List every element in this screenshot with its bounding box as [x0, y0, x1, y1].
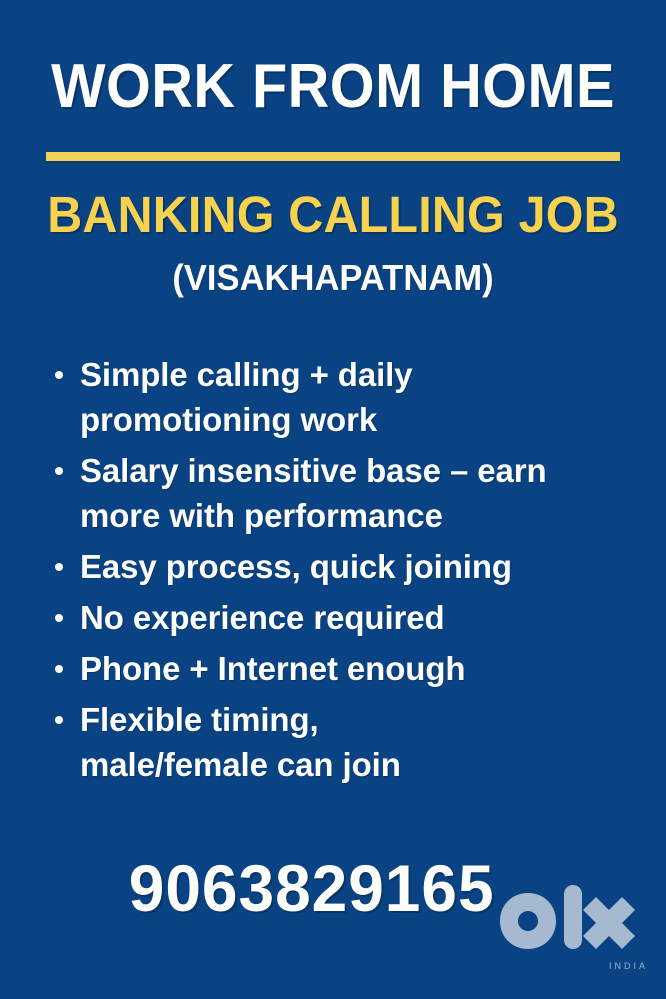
- page-title: WORK FROM HOME: [23, 56, 642, 118]
- list-item: Simple calling + daily promotioning work: [44, 352, 644, 442]
- title-divider: [46, 152, 620, 161]
- olx-region-label: INDIA: [609, 961, 648, 971]
- list-item: Easy process, quick joining: [44, 544, 644, 589]
- olx-logo-watermark: [492, 875, 652, 967]
- location-label: (VISAKHAPATNAM): [13, 258, 652, 298]
- list-item: No experience required: [44, 595, 644, 640]
- list-item: Salary insensitive base – earn more with…: [44, 448, 644, 538]
- job-advertisement-poster: WORK FROM HOME BANKING CALLING JOB (VISA…: [0, 0, 666, 999]
- list-item: Flexible timing, male/female can join: [44, 697, 644, 787]
- list-item: Phone + Internet enough: [44, 646, 644, 691]
- subtitle: BANKING CALLING JOB: [17, 189, 650, 240]
- feature-list: Simple calling + daily promotioning work…: [44, 352, 644, 793]
